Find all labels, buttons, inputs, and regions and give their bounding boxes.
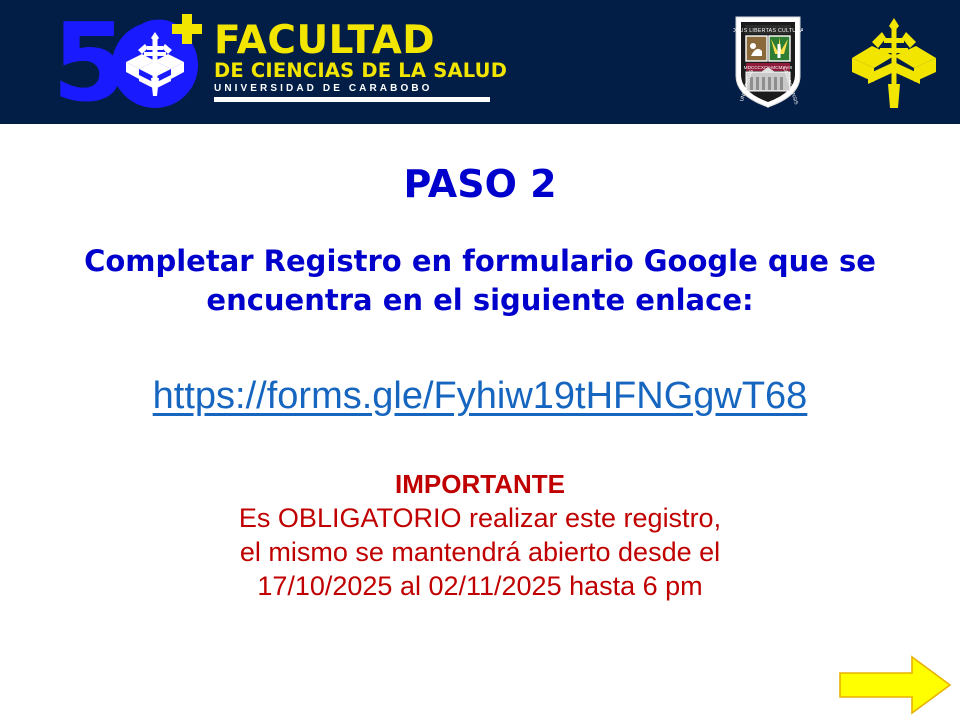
wordmark-underline-rule <box>214 97 490 102</box>
subtitle-line-2: encuentra en el siguiente enlace: <box>60 281 900 320</box>
form-link-container: https://forms.gle/Fyhiw19tHFNGgwT68 <box>0 372 960 420</box>
svg-text:DEUS LIBERTAS CULTURA: DEUS LIBERTAS CULTURA <box>733 28 803 34</box>
anniversary-50-logo: 50 <box>52 8 212 118</box>
important-notice: IMPORTANTE Es OBLIGATORIO realizar este … <box>60 468 900 603</box>
notice-line-2: el mismo se mantendrá abierto desde el <box>60 535 900 569</box>
slide-body: PASO 2 Completar Registro en formulario … <box>0 124 960 720</box>
page-title: PASO 2 <box>0 162 960 206</box>
universidad-de-carabobo-emblem-icon <box>848 12 940 112</box>
plus-icon <box>172 14 202 44</box>
wordmark-line-health-sciences: DE CIENCIAS DE LA SALUD <box>214 60 490 82</box>
faculty-wordmark: FACULTAD DE CIENCIAS DE LA SALUD UNIVERS… <box>214 22 490 102</box>
subtitle-line-1: Completar Registro en formulario Google … <box>60 242 900 281</box>
universidad-de-carabobo-shield-icon: DEUS LIBERTAS CULTURA MDCCCXCII-MCMXVIII… <box>733 14 803 110</box>
wordmark-line-university: UNIVERSIDAD DE CARABOBO <box>214 82 490 95</box>
notice-line-1: Es OBLIGATORIO realizar este registro, <box>60 501 900 535</box>
wordmark-line-faculty: FACULTAD <box>214 22 490 60</box>
slide-header-band: 50 <box>0 0 960 124</box>
subtitle-text: Completar Registro en formulario Google … <box>60 242 900 320</box>
google-form-link[interactable]: https://forms.gle/Fyhiw19tHFNGgwT68 <box>153 375 808 417</box>
arrow-right-icon[interactable] <box>838 653 952 717</box>
notice-line-3: 17/10/2025 al 02/11/2025 hasta 6 pm <box>60 569 900 603</box>
notice-heading: IMPORTANTE <box>60 468 900 501</box>
